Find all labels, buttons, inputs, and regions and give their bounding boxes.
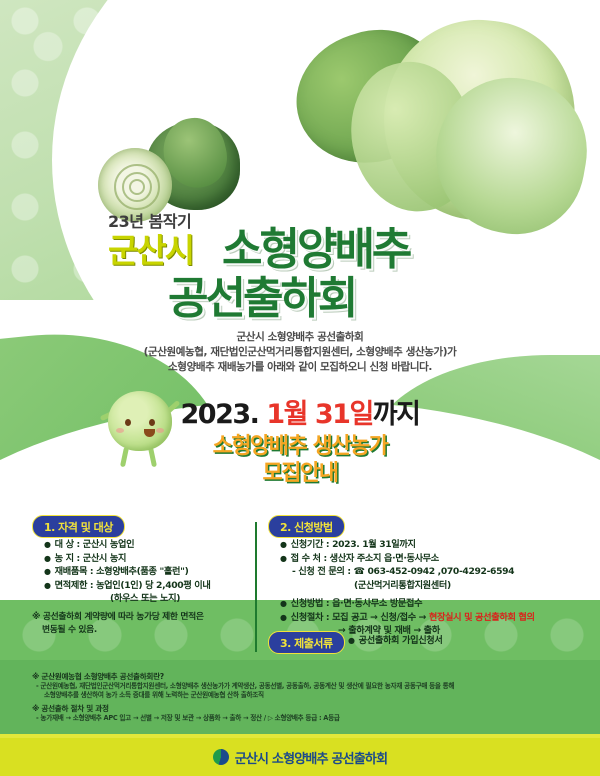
poster-description: 군산시 소형양배추 공선출하회 (군산원예농협, 재단법인군산먹거리통합지원센터… [0,330,600,375]
list-item-sub: (하우스 또는 노지) [44,592,211,606]
deadline-suffix: 까지 [373,399,420,430]
bullet-icon: ● [348,634,355,648]
footer-bar: 군산시 소형양배추 공선출하회 [0,738,600,776]
bullet-icon: ● [280,597,287,611]
list-item: ●대 상 : 군산시 농업인 [44,538,211,552]
list-item: ●공선출하회 가입신청서 [348,634,443,648]
footnote-title-1: ※ 군산원예농협 소형양배추 공선출하회란? [32,671,164,682]
section-2-heading: 2. 신청방법 [268,515,345,538]
bullet-icon: ● [280,538,287,552]
procedure-highlight: 현장실시 및 공선출하회 협의 [429,612,535,623]
footnote-title-2: ※ 공선출하 절차 및 과정 [32,703,109,714]
deadline-year: 2023. [181,399,259,430]
section-3-heading: 3. 제출서류 [268,631,345,654]
bullet-icon: ● [280,611,287,625]
footnote-body-1-line-2: 소형양배추를 생산하여 농가 소득 증대를 위해 노력하는 군산원예농협 산하 … [44,691,264,701]
poster-subtitle-2: 모집안내 [0,455,600,487]
section-3-list: ●공선출하회 가입신청서 [348,634,443,648]
list-item: ●신청기간 : 2023. 1월 31일까지 [280,538,535,552]
poster-root: 23년 봄작기 군산시 소형양배추 공선출하회 군산시 소형양배추 공선출하회 … [0,0,600,776]
description-line-3: 소형양배추 재배농가를 아래와 같이 모집하오니 신청 바랍니다. [0,360,600,375]
deadline-line: 2023. 1월 31일까지 [0,392,600,431]
bullet-icon: ● [44,552,51,566]
note-line-2: 변동될 수 있음. [32,624,204,637]
list-item: ●농 지 : 군산시 농지 [44,552,211,566]
description-line-2: (군산원예농협, 재단법인군산먹거리통합지원센터, 소형양배추 생산농가)가 [0,345,600,360]
bullet-icon: ● [280,552,287,566]
org-line: (군산먹거리통합지원센터) [280,579,535,593]
description-line-1: 군산시 소형양배추 공선출하회 [0,330,600,345]
note-line-1: ※ 공선출하회 계약량에 따라 농가당 제한 면적은 [32,611,204,624]
list-item: ●접 수 처 : 생산자 주소지 읍·면·동사무소 [280,552,535,566]
bullet-icon: ● [44,565,51,579]
section-2-list: ●신청기간 : 2023. 1월 31일까지 ●접 수 처 : 생산자 주소지 … [280,538,535,638]
poster-headline-2: 공선출하회 [168,262,355,326]
deadline-month: 1월 [266,399,307,430]
cabbage-logo-icon [213,749,229,765]
footnote-body-2: - 농가재배 → 소형양배추 APC 입고 → 선별 → 저장 및 보관 → 상… [36,714,340,724]
list-item: ●면적제한 : 농업인(1인) 당 2,400평 이내 [44,579,211,593]
list-item: ●재배품목 : 소형양배추(품종 "홀런") [44,565,211,579]
phone-line: - 신청 전 문의 : ☎ 063-452-0942 ,070-4292-659… [280,565,535,579]
list-item: ●신청방법 : 읍·면·동사무소 방문접수 [280,597,535,611]
column-divider [255,522,257,652]
section-1-heading: 1. 자격 및 대상 [32,515,125,538]
bullet-icon: ● [44,538,51,552]
list-item: ● 신청절차 : 모집 공고 → 신청/접수 → 현장실시 및 공선출하회 협의 [280,611,535,625]
deadline-day: 31일 [315,399,373,430]
bullet-icon: ● [44,579,51,593]
section-1-list: ●대 상 : 군산시 농업인 ●농 지 : 군산시 농지 ●재배품목 : 소형양… [44,538,211,606]
section-1-note: ※ 공선출하회 계약량에 따라 농가당 제한 면적은 변동될 수 있음. [32,611,204,636]
footer-text: 군산시 소형양배추 공선출하회 [235,748,388,767]
cabbage-photo [266,14,596,244]
